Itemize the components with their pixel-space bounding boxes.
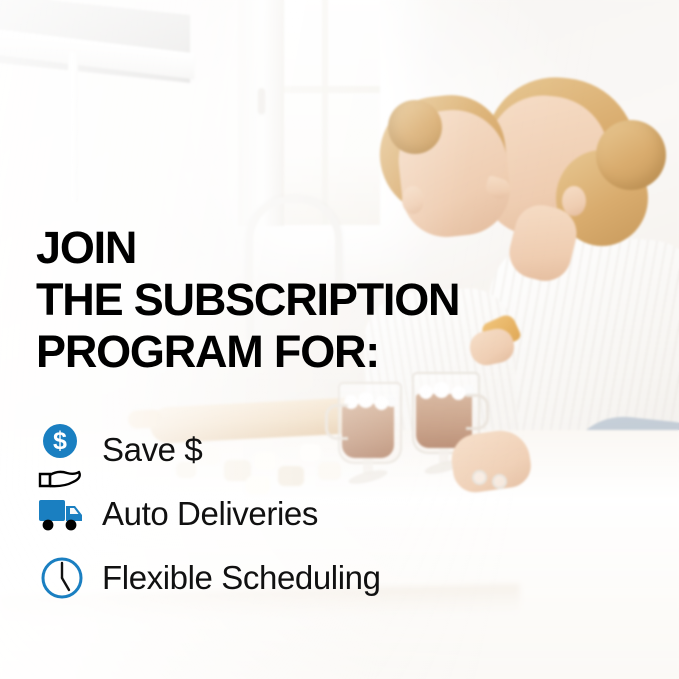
money-in-hand-icon: $: [36, 424, 88, 476]
benefit-flexible-scheduling: Flexible Scheduling: [36, 546, 516, 610]
delivery-truck-icon: [36, 488, 88, 540]
headline: JOIN THE SUBSCRIPTION PROGRAM FOR:: [36, 222, 506, 378]
subscription-promo-banner: JOIN THE SUBSCRIPTION PROGRAM FOR: $ Sav…: [0, 0, 679, 679]
benefit-label: Flexible Scheduling: [102, 559, 381, 597]
benefit-auto-deliveries: Auto Deliveries: [36, 482, 516, 546]
headline-line-2: THE SUBSCRIPTION: [36, 274, 506, 326]
clock-icon: [36, 552, 88, 604]
benefits-list: $ Save $: [36, 418, 516, 610]
headline-line-1: JOIN: [36, 222, 506, 274]
promo-content: JOIN THE SUBSCRIPTION PROGRAM FOR: $ Sav…: [0, 0, 679, 679]
headline-line-3: PROGRAM FOR:: [36, 326, 506, 378]
benefit-save-money: $ Save $: [36, 418, 516, 482]
benefit-label: Auto Deliveries: [102, 495, 318, 533]
benefit-label: Save $: [102, 431, 202, 469]
